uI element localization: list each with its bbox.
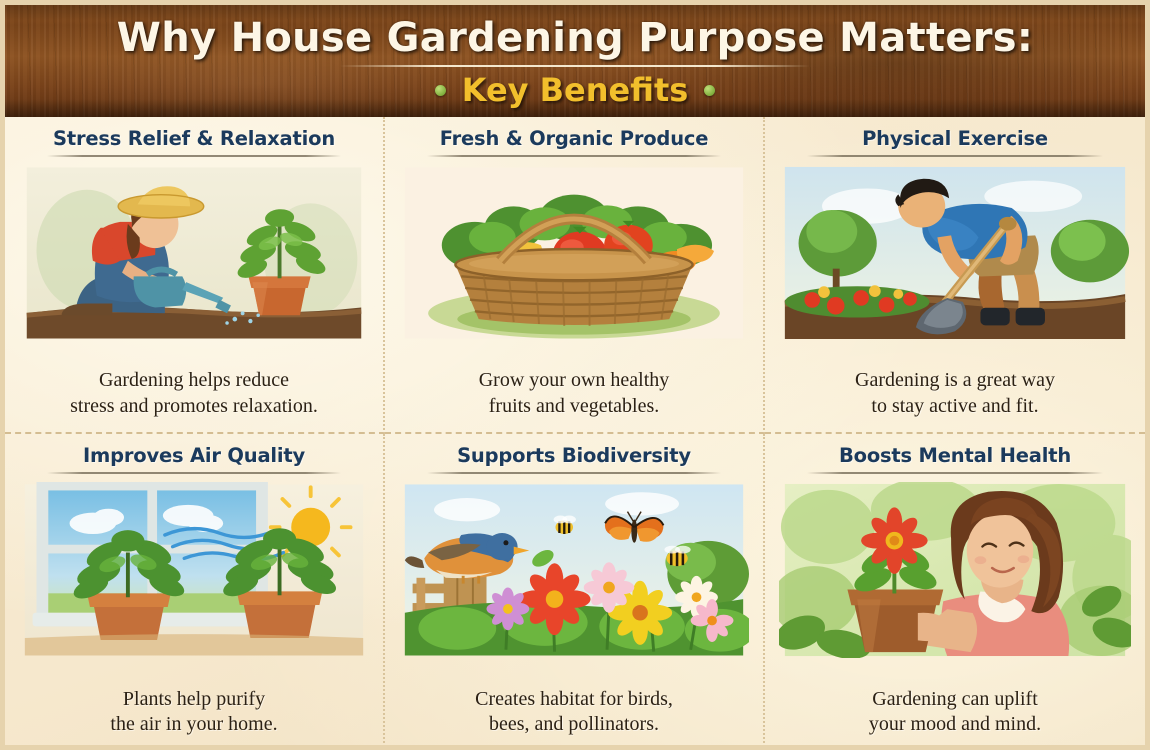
illustration-vegetable-basket xyxy=(399,165,749,341)
card-title: Boosts Mental Health xyxy=(839,444,1071,467)
card-caption-line2: fruits and vegetables. xyxy=(479,394,670,420)
green-dot-left-icon xyxy=(435,85,446,96)
card-caption-line1: Gardening can uplift xyxy=(869,687,1041,713)
card-caption-line1: Gardening helps reduce xyxy=(70,368,318,394)
illustration-windowsill-plants xyxy=(19,482,369,658)
title-divider xyxy=(340,65,810,67)
card-caption: Gardening can uplift your mood and mind. xyxy=(869,687,1041,744)
card-caption: Gardening helps reduce stress and promot… xyxy=(70,368,318,425)
page-title: Why House Gardening Purpose Matters: xyxy=(5,5,1145,61)
benefit-card-biodiversity: Supports Biodiversity xyxy=(385,434,765,750)
card-title: Physical Exercise xyxy=(862,127,1048,150)
card-caption-line2: bees, and pollinators. xyxy=(475,712,673,738)
benefit-card-fresh-produce: Fresh & Organic Produce xyxy=(385,117,765,434)
page-subtitle: Key Benefits xyxy=(462,71,689,109)
card-title: Improves Air Quality xyxy=(83,444,305,467)
card-caption-line1: Plants help purify xyxy=(110,687,277,713)
card-title: Supports Biodiversity xyxy=(457,444,691,467)
card-caption-line1: Gardening is a great way xyxy=(855,368,1055,394)
green-dot-right-icon xyxy=(704,85,715,96)
subtitle-row: Key Benefits xyxy=(5,71,1145,109)
card-title-underline xyxy=(427,155,721,157)
infographic-poster: Why House Gardening Purpose Matters: Key… xyxy=(0,0,1150,750)
illustration-woman-with-flower-pot xyxy=(779,482,1131,658)
card-caption-line1: Grow your own healthy xyxy=(479,368,670,394)
card-title: Stress Relief & Relaxation xyxy=(53,127,335,150)
card-caption: Creates habitat for birds, bees, and pol… xyxy=(475,687,673,744)
card-title-underline xyxy=(807,472,1103,474)
card-title-underline xyxy=(47,155,341,157)
card-caption-line1: Creates habitat for birds, xyxy=(475,687,673,713)
card-title-underline xyxy=(47,472,341,474)
illustration-woman-watering-plant xyxy=(19,165,369,341)
benefit-card-stress-relief: Stress Relief & Relaxation xyxy=(5,117,385,434)
card-caption: Plants help purify the air in your home. xyxy=(110,687,277,744)
card-title-underline xyxy=(427,472,721,474)
card-title: Fresh & Organic Produce xyxy=(440,127,709,150)
card-caption-line2: stress and promotes relaxation. xyxy=(70,394,318,420)
benefit-card-mental-health: Boosts Mental Health xyxy=(765,434,1145,750)
card-caption-line2: the air in your home. xyxy=(110,712,277,738)
card-caption-line2: your mood and mind. xyxy=(869,712,1041,738)
illustration-bird-bees-flowers xyxy=(399,482,749,658)
card-caption-line2: to stay active and fit. xyxy=(855,394,1055,420)
illustration-man-digging xyxy=(779,165,1131,341)
benefit-card-air-quality: Improves Air Quality xyxy=(5,434,385,750)
poster-header: Why House Gardening Purpose Matters: Key… xyxy=(5,5,1145,117)
card-caption: Grow your own healthy fruits and vegetab… xyxy=(479,368,670,425)
benefits-grid: Stress Relief & Relaxation xyxy=(5,117,1145,750)
benefit-card-physical-exercise: Physical Exercise xyxy=(765,117,1145,434)
card-title-underline xyxy=(807,155,1103,157)
card-caption: Gardening is a great way to stay active … xyxy=(855,368,1055,425)
